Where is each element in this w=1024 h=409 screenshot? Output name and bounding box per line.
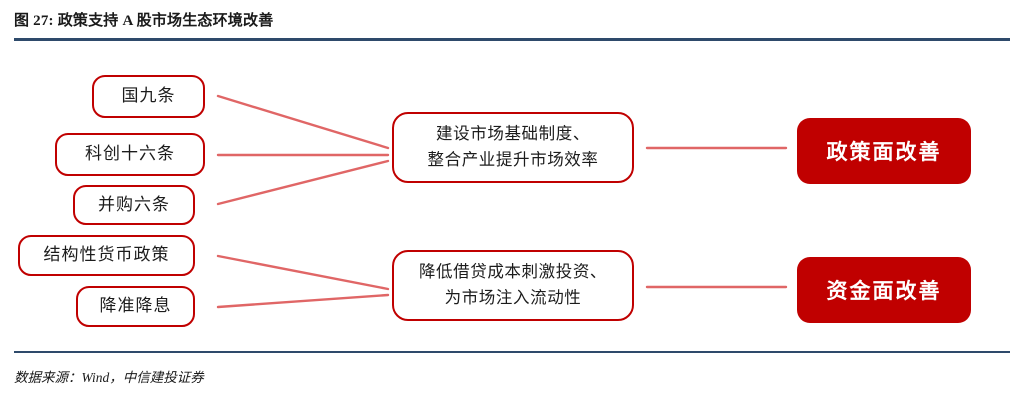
outcome-label: 资金面改善 <box>827 275 942 305</box>
outcome-box-funding: 资金面改善 <box>797 257 971 323</box>
policy-chip-monetary-policy[interactable]: 结构性货币政策 <box>18 235 195 276</box>
policy-chip-label: 结构性货币政策 <box>44 245 170 265</box>
policy-chip-label: 国九条 <box>122 86 176 106</box>
policy-chip-label: 降准降息 <box>100 296 172 316</box>
figure-header: 图 27: 政策支持 A 股市场生态环境改善 <box>0 0 1024 46</box>
policy-chip-label: 科创十六条 <box>85 144 175 164</box>
connector-line <box>218 161 388 204</box>
connector-line <box>218 295 388 307</box>
policy-chip-binggou6[interactable]: 并购六条 <box>73 185 195 225</box>
outcome-label: 政策面改善 <box>827 136 942 166</box>
page-title: 图 27: 政策支持 A 股市场生态环境改善 <box>14 9 273 30</box>
policy-chip-rate-cut[interactable]: 降准降息 <box>76 286 195 327</box>
connector-line <box>218 96 388 148</box>
policy-chip-guojiutiao[interactable]: 国九条 <box>92 75 205 118</box>
connector-line <box>218 256 388 289</box>
description-line-1: 建设市场基础制度、 <box>436 122 590 148</box>
footer-divider <box>14 351 1010 353</box>
source-note: 数据来源：Wind，中信建投证券 <box>14 366 204 386</box>
description-line-2: 整合产业提升市场效率 <box>428 148 599 174</box>
outcome-box-policy: 政策面改善 <box>797 118 971 184</box>
description-line-2: 为市场注入流动性 <box>445 286 582 312</box>
diagram-canvas: 国九条 科创十六条 并购六条 结构性货币政策 降准降息 建设市场基础制度、 整合… <box>0 46 1024 346</box>
policy-chip-label: 并购六条 <box>98 195 170 215</box>
title-divider <box>14 38 1010 41</box>
policy-chip-kechuang16[interactable]: 科创十六条 <box>55 133 205 176</box>
description-box-market-system: 建设市场基础制度、 整合产业提升市场效率 <box>392 112 634 183</box>
description-line-1: 降低借贷成本刺激投资、 <box>419 260 607 286</box>
description-box-liquidity: 降低借贷成本刺激投资、 为市场注入流动性 <box>392 250 634 321</box>
